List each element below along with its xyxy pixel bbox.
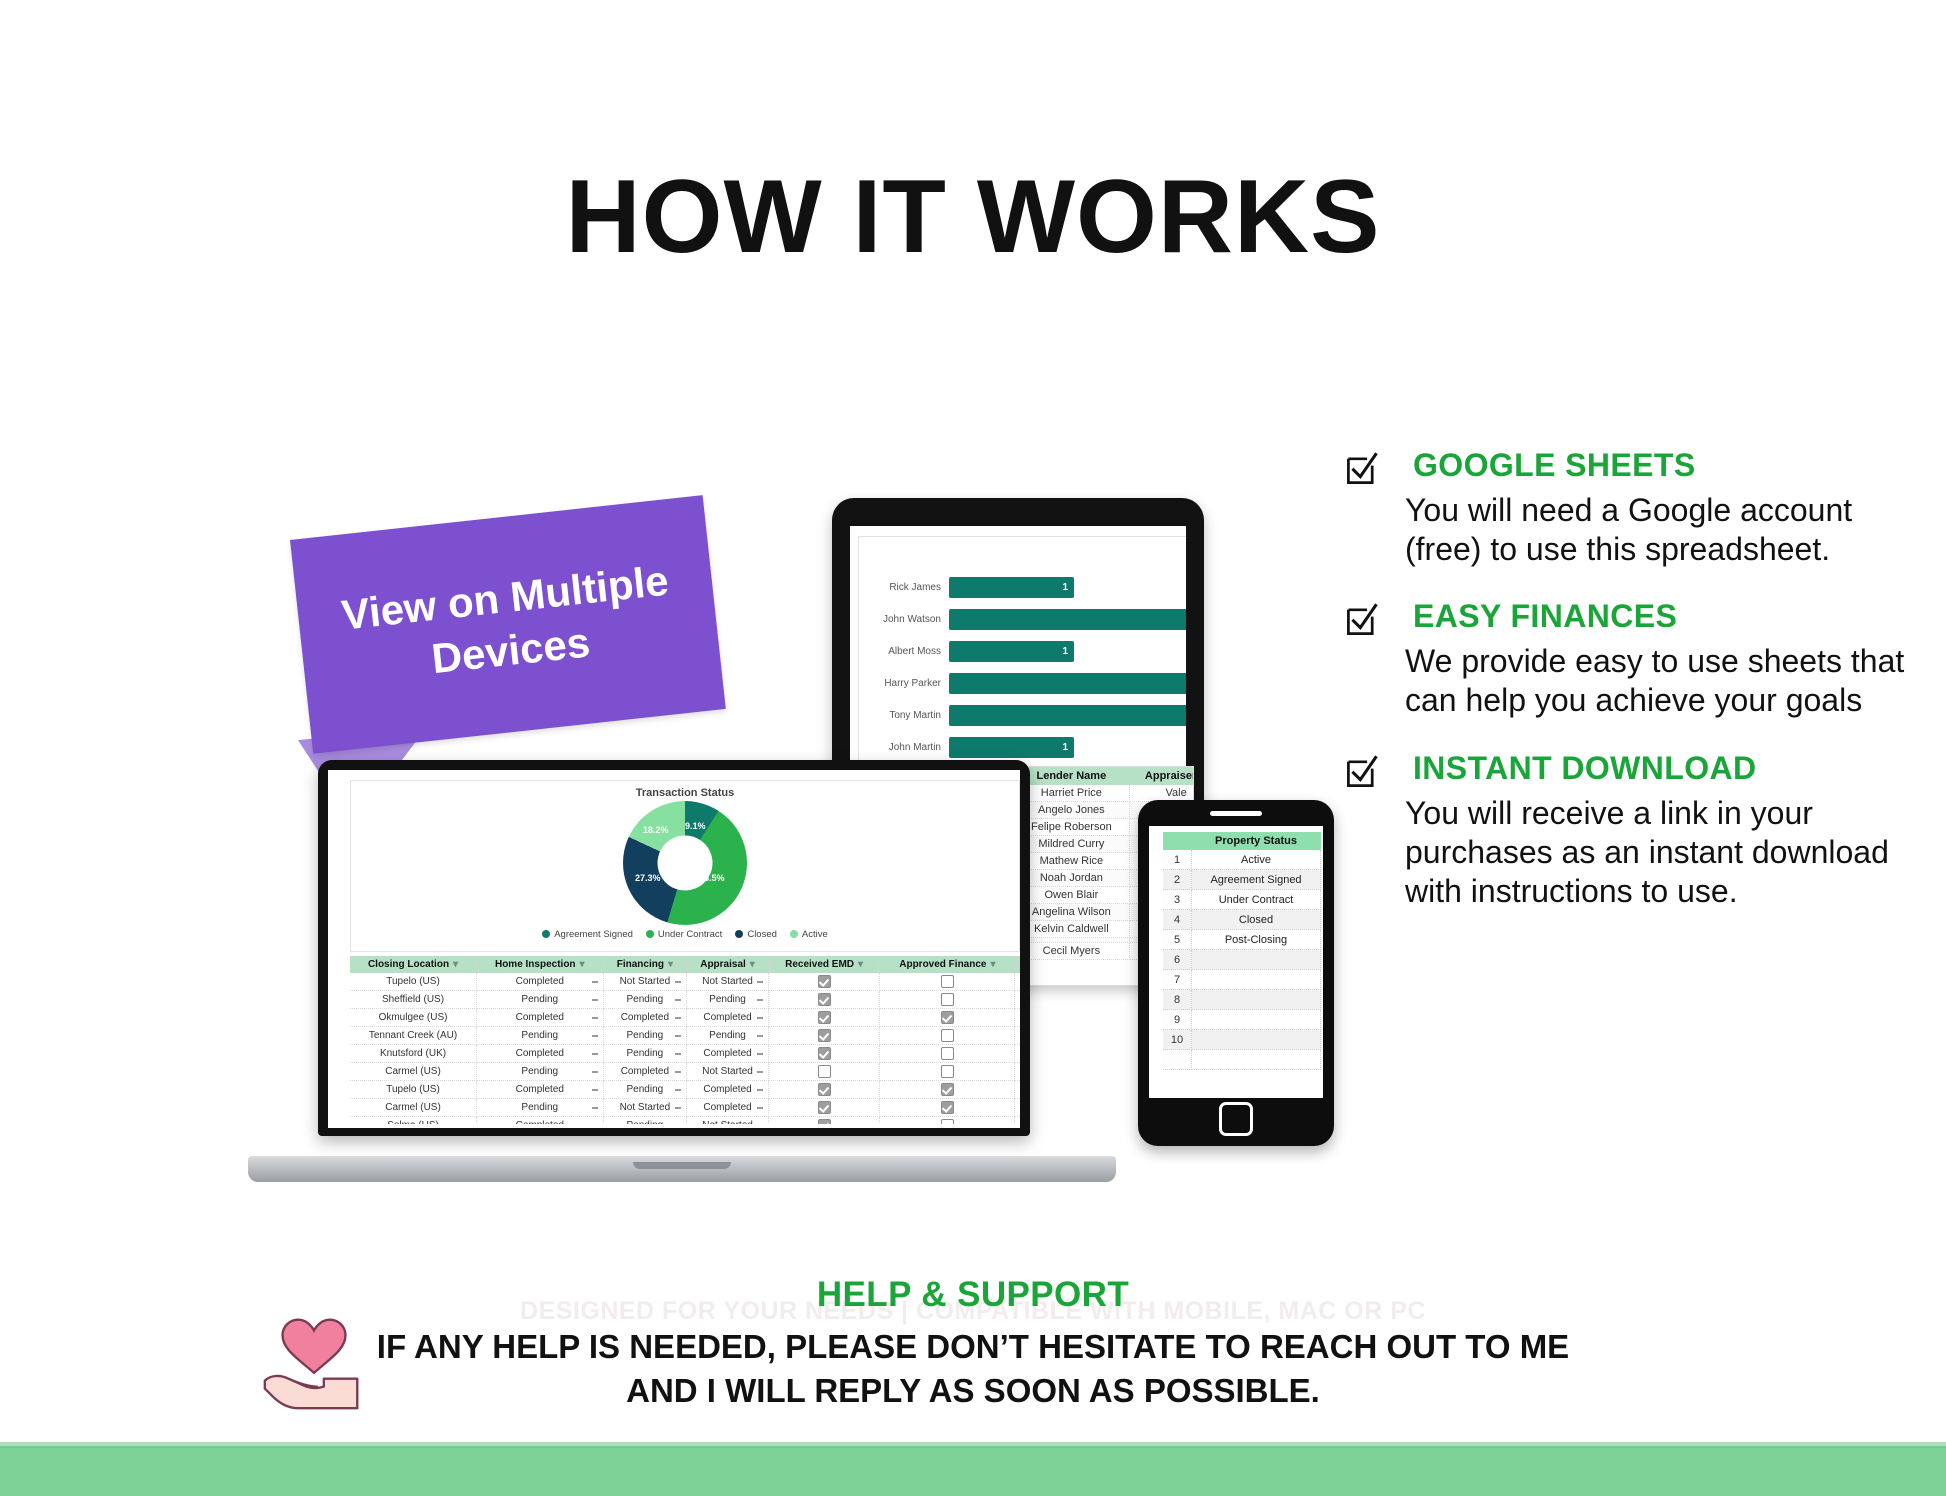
column-header[interactable]: Appraisal▾ bbox=[687, 956, 769, 973]
property-status-sheet: Property Status 1Active2Agreement Signed… bbox=[1163, 832, 1323, 1098]
bar-category-label: Albert Moss bbox=[865, 646, 949, 657]
phone-screen: Property Status 1Active2Agreement Signed… bbox=[1149, 826, 1323, 1098]
approved-appraisal-cell[interactable] bbox=[1015, 1009, 1020, 1027]
row-index: 10 bbox=[1163, 1030, 1192, 1050]
approved-appraisal-cell[interactable] bbox=[1015, 1081, 1020, 1099]
received-emd-cell[interactable] bbox=[768, 1081, 880, 1099]
ribbon-body: View on Multiple Devices bbox=[290, 495, 726, 754]
property-status-cell[interactable]: Active bbox=[1192, 850, 1321, 870]
list-item[interactable]: 2Agreement Signed bbox=[1163, 870, 1321, 890]
approved-appraisal-cell[interactable] bbox=[1015, 1045, 1020, 1063]
feature-body: You will need a Google account (free) to… bbox=[1405, 491, 1905, 569]
row-index: 7 bbox=[1163, 970, 1192, 990]
bar-category-label: Tony Martin bbox=[865, 710, 949, 721]
table-row[interactable]: Tupelo (US)CompletedPendingCompleted bbox=[350, 1081, 1020, 1099]
list-item[interactable]: 3Under Contract bbox=[1163, 890, 1321, 910]
approved-finance-cell[interactable] bbox=[880, 973, 1015, 991]
checkbox-icon[interactable] bbox=[818, 1101, 831, 1114]
poster-root: HOW IT WORKS View on Multiple Devices Nu… bbox=[0, 0, 1946, 1496]
checkbox-icon[interactable] bbox=[941, 1119, 954, 1124]
approved-finance-cell[interactable] bbox=[880, 1081, 1015, 1099]
table-cell[interactable]: Completed bbox=[603, 1009, 687, 1027]
feature-title: EASY FINANCES bbox=[1413, 599, 1905, 634]
column-header-label: Closing Location bbox=[368, 959, 449, 970]
table-cell[interactable]: Pending bbox=[687, 991, 769, 1009]
donut-legend-item: Under Contract bbox=[646, 929, 722, 940]
property-status-cell[interactable]: Agreement Signed bbox=[1192, 870, 1321, 890]
closing-tracker-sheet: Closing Location▾Home Inspection▾Financi… bbox=[350, 956, 1020, 1124]
row-index-header bbox=[1163, 832, 1192, 850]
table-cell[interactable]: Carmel (US) bbox=[350, 1099, 477, 1117]
bar-category-label: Harry Parker bbox=[865, 678, 949, 689]
bar-chart-row: Tony Martin bbox=[865, 703, 1186, 727]
row-index: 8 bbox=[1163, 990, 1192, 1010]
approved-finance-cell[interactable] bbox=[880, 1099, 1015, 1117]
column-header[interactable]: Approved Appraisal▾ bbox=[1015, 956, 1020, 973]
checkbox-icon[interactable] bbox=[941, 1011, 954, 1024]
laptop-trackpad-notch bbox=[633, 1162, 731, 1169]
donut-label-closed: 27.3% bbox=[635, 873, 661, 883]
table-cell[interactable]: Okmulgee (US) bbox=[350, 1009, 477, 1027]
feature-item-3: INSTANT DOWNLOADYou will receive a link … bbox=[1345, 751, 1905, 911]
table-cell[interactable]: Tupelo (US) bbox=[350, 973, 477, 991]
list-item[interactable]: 1Active bbox=[1163, 850, 1321, 870]
bar-chart-bars: Rick James1John WatsonAlbert Moss1Harry … bbox=[865, 575, 1186, 767]
donut-label-agreement-signed: 9.1% bbox=[685, 821, 706, 831]
laptop-device: Transaction Status 9.1% 45.5% 27.3% 18.2… bbox=[300, 760, 1060, 1180]
column-header[interactable]: Approved Finance▾ bbox=[880, 956, 1015, 973]
laptop-lid: Transaction Status 9.1% 45.5% 27.3% 18.2… bbox=[318, 760, 1030, 1136]
received-emd-cell[interactable] bbox=[768, 1117, 880, 1125]
row-index: 4 bbox=[1163, 910, 1192, 930]
donut-legend-label: Active bbox=[802, 929, 828, 940]
filter-icon[interactable]: ▾ bbox=[668, 959, 673, 970]
row-index: 6 bbox=[1163, 950, 1192, 970]
received-emd-cell[interactable] bbox=[768, 991, 880, 1009]
checkbox-icon[interactable] bbox=[818, 1065, 831, 1078]
donut-legend-item: Closed bbox=[735, 929, 777, 940]
table-cell[interactable]: Pending bbox=[477, 1099, 603, 1117]
table-cell[interactable]: Pending bbox=[603, 1045, 687, 1063]
feature-item-1: GOOGLE SHEETSYou will need a Google acco… bbox=[1345, 448, 1905, 569]
donut-label-active: 18.2% bbox=[643, 825, 669, 835]
table-cell[interactable]: Selma (US) bbox=[350, 1117, 477, 1125]
approved-finance-cell[interactable] bbox=[880, 1063, 1015, 1081]
table-cell[interactable]: Pending bbox=[477, 1027, 603, 1045]
bar bbox=[949, 705, 1186, 726]
table-cell[interactable]: Pending bbox=[477, 991, 603, 1009]
property-status-cell[interactable] bbox=[1192, 970, 1321, 990]
filter-icon[interactable]: ▾ bbox=[990, 959, 995, 970]
approved-finance-cell[interactable] bbox=[880, 991, 1015, 1009]
table-row[interactable]: Carmel (US)PendingCompletedNot Started bbox=[350, 1063, 1020, 1081]
transaction-status-chart: Transaction Status 9.1% 45.5% 27.3% 18.2… bbox=[350, 780, 1020, 952]
list-item[interactable]: 4Closed bbox=[1163, 910, 1321, 930]
column-header-label: Approved Finance bbox=[899, 959, 986, 970]
bar-value-label: 1 bbox=[1062, 646, 1074, 657]
donut-legend-item: Agreement Signed bbox=[542, 929, 633, 940]
approved-appraisal-cell[interactable] bbox=[1015, 1117, 1020, 1125]
property-status-header: Property Status bbox=[1192, 832, 1321, 850]
row-index: 9 bbox=[1163, 1010, 1192, 1030]
bar-chart-row: Harry Parker bbox=[865, 671, 1186, 695]
bar-chart-row: Albert Moss1 bbox=[865, 639, 1186, 663]
table-cell[interactable]: Completed bbox=[687, 1045, 769, 1063]
donut-legend-item: Active bbox=[790, 929, 828, 940]
approved-appraisal-cell[interactable] bbox=[1015, 973, 1020, 991]
phone-home-button[interactable] bbox=[1219, 1102, 1253, 1136]
table-cell[interactable]: Completed bbox=[687, 1099, 769, 1117]
list-item[interactable]: 7 bbox=[1163, 970, 1321, 990]
checkbox-icon[interactable] bbox=[941, 975, 954, 988]
approved-appraisal-cell[interactable] bbox=[1015, 1063, 1020, 1081]
checkbox-icon[interactable] bbox=[818, 1029, 831, 1042]
feature-title: GOOGLE SHEETS bbox=[1413, 448, 1905, 483]
table-cell[interactable]: Pending bbox=[603, 1027, 687, 1045]
feature-title: INSTANT DOWNLOAD bbox=[1413, 751, 1905, 786]
feature-body: We provide easy to use sheets that can h… bbox=[1405, 642, 1905, 720]
column-header-label: Financing bbox=[617, 959, 664, 970]
checkbox-icon[interactable] bbox=[941, 1065, 954, 1078]
column-header[interactable]: Received EMD▾ bbox=[768, 956, 880, 973]
received-emd-cell[interactable] bbox=[768, 1027, 880, 1045]
closing-table-head: Closing Location▾Home Inspection▾Financi… bbox=[350, 956, 1020, 973]
received-emd-cell[interactable] bbox=[768, 1009, 880, 1027]
row-index: 5 bbox=[1163, 930, 1192, 950]
feature-body: You will receive a link in your purchase… bbox=[1405, 794, 1905, 911]
property-status-cell[interactable]: Under Contract bbox=[1192, 890, 1321, 910]
table-row[interactable]: Tupelo (US)CompletedNot StartedNot Start… bbox=[350, 973, 1020, 991]
filter-icon[interactable]: ▾ bbox=[453, 959, 458, 970]
checkbox-icon[interactable] bbox=[818, 1011, 831, 1024]
list-item[interactable]: 10 bbox=[1163, 1030, 1321, 1050]
donut-wrap: 9.1% 45.5% 27.3% 18.2% bbox=[623, 801, 747, 925]
ribbon-text: View on Multiple Devices bbox=[296, 550, 720, 698]
bar-chart-row: John Watson bbox=[865, 607, 1186, 631]
bar-category-label: John Martin bbox=[865, 742, 949, 753]
checkbox-icon[interactable] bbox=[818, 1119, 831, 1124]
property-status-cell[interactable]: Closed bbox=[1192, 910, 1321, 930]
approved-finance-cell[interactable] bbox=[880, 1045, 1015, 1063]
column-header[interactable]: Financing▾ bbox=[603, 956, 687, 973]
table-cell[interactable]: Tupelo (US) bbox=[350, 1081, 477, 1099]
bar bbox=[949, 673, 1186, 694]
table-cell[interactable]: Sheffield (US) bbox=[350, 991, 477, 1009]
donut-chart-title: Transaction Status bbox=[351, 787, 1019, 799]
laptop-screen: Transaction Status 9.1% 45.5% 27.3% 18.2… bbox=[328, 770, 1020, 1128]
column-header-label: Home Inspection bbox=[495, 959, 576, 970]
received-emd-cell[interactable] bbox=[768, 1063, 880, 1081]
donut-legend: Agreement SignedUnder ContractClosedActi… bbox=[351, 929, 1019, 940]
column-header[interactable]: Home Inspection▾ bbox=[477, 956, 603, 973]
table-cell[interactable]: Pending bbox=[603, 1081, 687, 1099]
list-item[interactable]: 9 bbox=[1163, 1010, 1321, 1030]
checkbox-icon[interactable] bbox=[941, 1101, 954, 1114]
bar-chart-row: Rick James1 bbox=[865, 575, 1186, 599]
bar-value-label: 1 bbox=[1062, 582, 1074, 593]
table-cell[interactable]: Pending bbox=[687, 1027, 769, 1045]
column-header[interactable]: Closing Location▾ bbox=[350, 956, 477, 973]
table-cell[interactable]: Completed bbox=[477, 1009, 603, 1027]
footer-green-bar bbox=[0, 1446, 1946, 1496]
checkbox-checked-icon bbox=[1345, 603, 1379, 637]
bar bbox=[949, 609, 1186, 630]
property-status-cell[interactable] bbox=[1192, 1010, 1321, 1030]
feature-list: GOOGLE SHEETSYou will need a Google acco… bbox=[1345, 448, 1905, 941]
table-cell[interactable]: Completed bbox=[687, 1081, 769, 1099]
checkbox-icon[interactable] bbox=[818, 1047, 831, 1060]
approved-appraisal-cell[interactable] bbox=[1015, 991, 1020, 1009]
row-index: 2 bbox=[1163, 870, 1192, 890]
closing-table: Closing Location▾Home Inspection▾Financi… bbox=[350, 956, 1020, 1124]
hand-holding-heart-icon bbox=[255, 1302, 373, 1420]
table-row[interactable]: Tennant Creek (AU)PendingPendingPending bbox=[350, 1027, 1020, 1045]
checkbox-checked-icon bbox=[1345, 452, 1379, 486]
bar-value-label: 1 bbox=[1062, 742, 1074, 753]
checkbox-icon[interactable] bbox=[818, 975, 831, 988]
list-item[interactable]: 8 bbox=[1163, 990, 1321, 1010]
donut-label-under-contract: 45.5% bbox=[699, 873, 725, 883]
table-cell[interactable]: Not Started bbox=[687, 1063, 769, 1081]
approved-appraisal-cell[interactable] bbox=[1015, 1027, 1020, 1045]
bar-category-label: John Watson bbox=[865, 614, 949, 625]
approved-finance-cell[interactable] bbox=[880, 1117, 1015, 1125]
bar-chart-row: John Martin1 bbox=[865, 735, 1186, 759]
table-cell[interactable]: Completed bbox=[687, 1009, 769, 1027]
property-status-table: Property Status 1Active2Agreement Signed… bbox=[1163, 832, 1321, 1070]
checkbox-checked-icon bbox=[1345, 755, 1379, 789]
property-status-body: 1Active2Agreement Signed3Under Contract4… bbox=[1163, 850, 1321, 1070]
list-item[interactable]: 5Post-Closing bbox=[1163, 930, 1321, 950]
approved-appraisal-cell[interactable] bbox=[1015, 1099, 1020, 1117]
bar: 1 bbox=[949, 737, 1074, 758]
property-status-cell[interactable] bbox=[1192, 1050, 1321, 1070]
table-cell[interactable]: Completed bbox=[477, 1045, 603, 1063]
table-cell[interactable]: Not Started bbox=[603, 973, 687, 991]
table-cell[interactable]: Not Started bbox=[603, 1099, 687, 1117]
checkbox-icon[interactable] bbox=[941, 1083, 954, 1096]
received-emd-cell[interactable] bbox=[768, 1099, 880, 1117]
table-cell[interactable]: Pending bbox=[603, 991, 687, 1009]
checkbox-icon[interactable] bbox=[818, 993, 831, 1006]
column-header[interactable]: Appraiser C bbox=[1130, 767, 1194, 785]
bar: 1 bbox=[949, 641, 1074, 662]
bar: 1 bbox=[949, 577, 1074, 598]
page-title: HOW IT WORKS bbox=[0, 165, 1946, 269]
table-row[interactable]: Sheffield (US)PendingPendingPending bbox=[350, 991, 1020, 1009]
checkbox-icon[interactable] bbox=[941, 1047, 954, 1060]
filter-icon[interactable]: ▾ bbox=[580, 959, 585, 970]
row-index: 1 bbox=[1163, 850, 1192, 870]
table-cell[interactable]: Completed bbox=[477, 1081, 603, 1099]
table-cell[interactable]: Tennant Creek (AU) bbox=[350, 1027, 477, 1045]
table-cell[interactable]: Completed bbox=[477, 1117, 603, 1125]
table-cell[interactable]: Knutsford (UK) bbox=[350, 1045, 477, 1063]
donut-legend-label: Closed bbox=[747, 929, 777, 940]
list-item[interactable]: 6 bbox=[1163, 950, 1321, 970]
table-cell[interactable]: Not Started bbox=[687, 973, 769, 991]
bar-category-label: Rick James bbox=[865, 582, 949, 593]
column-header-label: Received EMD bbox=[785, 959, 854, 970]
approved-finance-cell[interactable] bbox=[880, 1009, 1015, 1027]
filter-icon[interactable]: ▾ bbox=[750, 959, 755, 970]
received-emd-cell[interactable] bbox=[768, 973, 880, 991]
table-cell[interactable]: Completed bbox=[477, 973, 603, 991]
checkbox-icon[interactable] bbox=[941, 1029, 954, 1042]
checkbox-icon[interactable] bbox=[941, 993, 954, 1006]
column-header-label: Appraisal bbox=[700, 959, 746, 970]
phone-speaker bbox=[1210, 811, 1262, 816]
property-status-head: Property Status bbox=[1163, 832, 1321, 850]
row-index: 3 bbox=[1163, 890, 1192, 910]
donut-legend-label: Under Contract bbox=[658, 929, 722, 940]
property-status-cell[interactable] bbox=[1192, 1030, 1321, 1050]
approved-finance-cell[interactable] bbox=[880, 1027, 1015, 1045]
laptop-base bbox=[248, 1156, 1116, 1182]
received-emd-cell[interactable] bbox=[768, 1045, 880, 1063]
feature-item-2: EASY FINANCESWe provide easy to use shee… bbox=[1345, 599, 1905, 720]
table-row[interactable]: Carmel (US)PendingNot StartedCompleted bbox=[350, 1099, 1020, 1117]
property-status-cell[interactable] bbox=[1192, 990, 1321, 1010]
checkbox-icon[interactable] bbox=[818, 1083, 831, 1096]
donut-legend-label: Agreement Signed bbox=[554, 929, 633, 940]
table-cell[interactable]: Not Started bbox=[687, 1117, 769, 1125]
table-cell[interactable]: Carmel (US) bbox=[350, 1063, 477, 1081]
table-cell[interactable]: Pending bbox=[477, 1063, 603, 1081]
list-item[interactable] bbox=[1163, 1050, 1321, 1070]
table-cell[interactable]: Pending bbox=[603, 1117, 687, 1125]
property-status-cell[interactable] bbox=[1192, 950, 1321, 970]
phone-device: Property Status 1Active2Agreement Signed… bbox=[1138, 800, 1334, 1146]
row-index bbox=[1163, 1050, 1192, 1070]
filter-icon[interactable]: ▾ bbox=[858, 959, 863, 970]
property-status-cell[interactable]: Post-Closing bbox=[1192, 930, 1321, 950]
table-row[interactable]: Knutsford (UK)CompletedPendingCompleted bbox=[350, 1045, 1020, 1063]
table-row[interactable]: Okmulgee (US)CompletedCompletedCompleted bbox=[350, 1009, 1020, 1027]
table-row[interactable]: Selma (US)CompletedPendingNot Started bbox=[350, 1117, 1020, 1125]
closing-table-body: Tupelo (US)CompletedNot StartedNot Start… bbox=[350, 973, 1020, 1124]
table-cell[interactable]: Completed bbox=[603, 1063, 687, 1081]
